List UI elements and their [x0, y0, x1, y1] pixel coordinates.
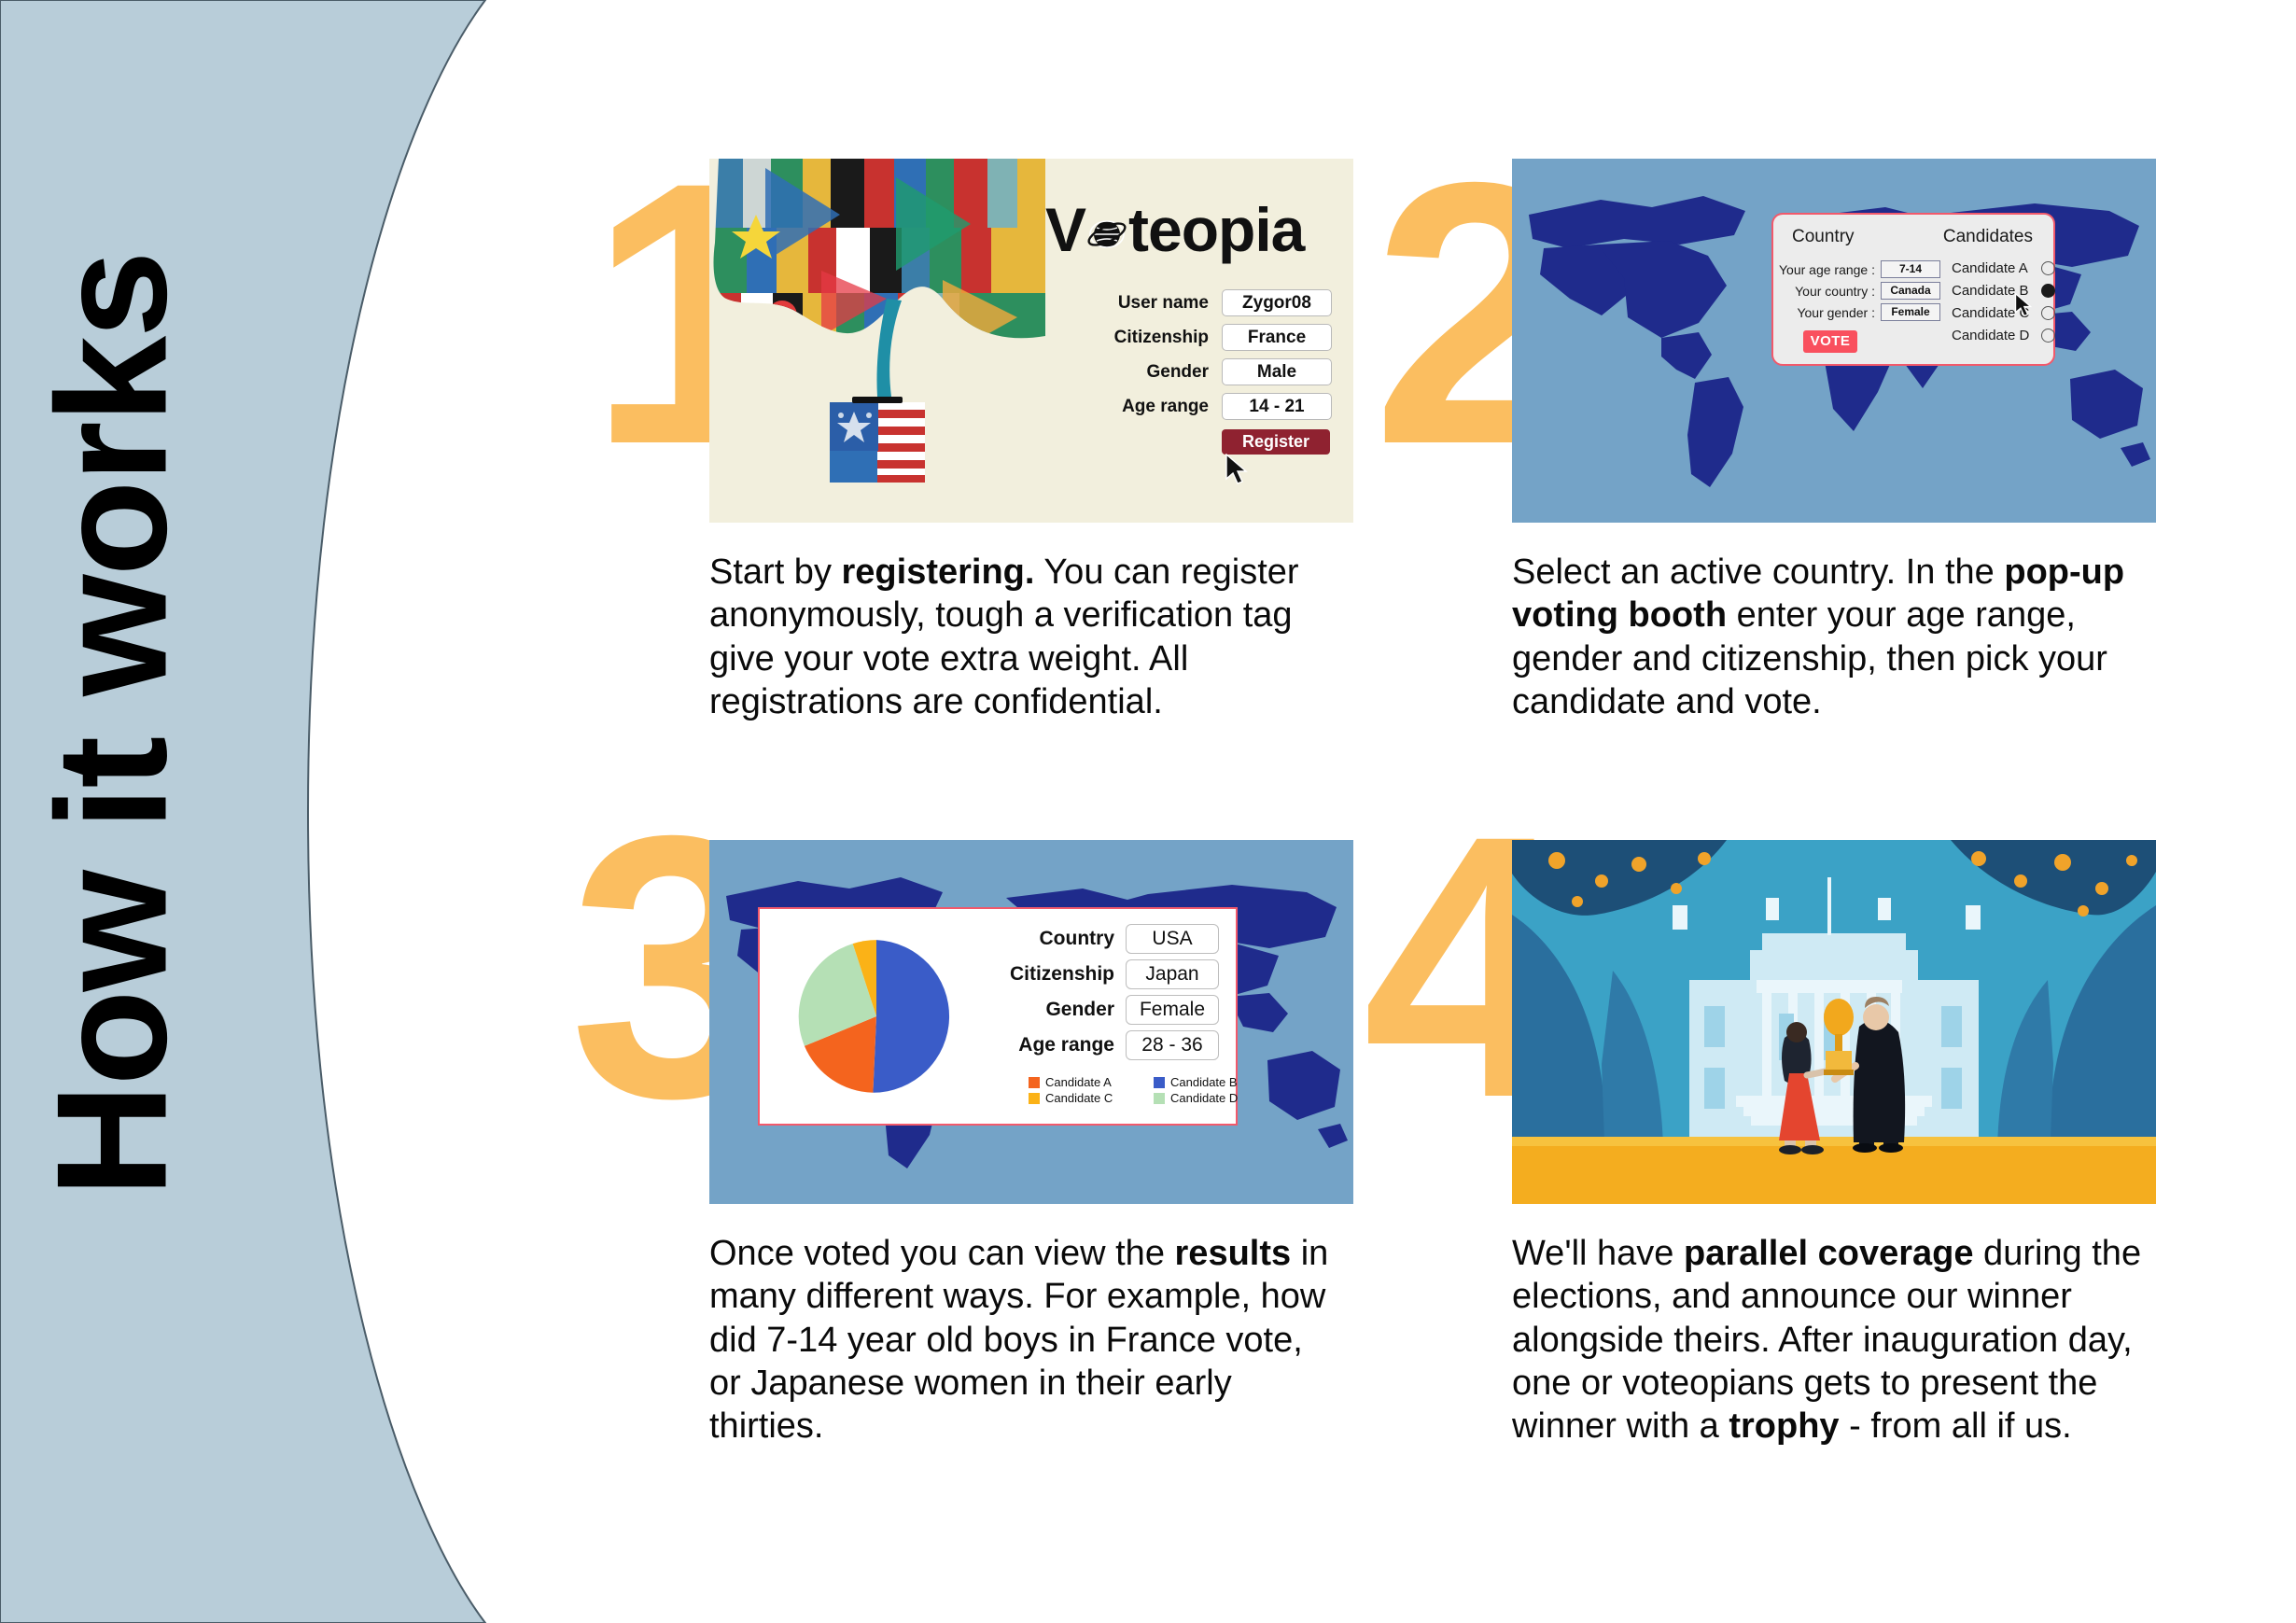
caption-seg-bold: results [1175, 1234, 1292, 1273]
voting-booth-popup: Country Candidates Your age range : 7-14… [1771, 213, 2055, 366]
radio-b-icon[interactable] [2041, 284, 2055, 298]
booth-heading-candidates: Candidates [1943, 227, 2033, 247]
results-country-label: Country [984, 928, 1114, 950]
step-1-caption: Start by registering. You can register a… [709, 551, 1344, 723]
register-button[interactable]: Register [1222, 429, 1330, 455]
username-input[interactable]: Zygor08 [1222, 289, 1332, 316]
booth-heading-country: Country [1792, 227, 1855, 247]
results-row-citizenship: Citizenship Japan [984, 959, 1219, 989]
caption-seg: Select an active country. In the [1512, 553, 2004, 592]
results-row-gender: Gender Female [984, 995, 1219, 1025]
results-gender-label: Gender [984, 999, 1114, 1021]
inauguration-illustration-card [1512, 840, 2156, 1204]
step-3-caption: Once voted you can view the results in m… [709, 1232, 1344, 1448]
booth-row-agerange: Your age range : 7-14 [1786, 260, 1940, 278]
candidate-d-label: Candidate D [1952, 328, 2041, 343]
results-citizenship-input[interactable]: Japan [1126, 959, 1219, 989]
legend-label-b: Candidate B [1170, 1075, 1238, 1089]
brand-logo: V teopia [1045, 194, 1304, 265]
booth-gender-label: Your gender : [1797, 305, 1875, 320]
globe-icon [1086, 198, 1127, 239]
register-screen-card: V teopia User name Zygor08 Citizenship F… [709, 159, 1353, 523]
caption-seg: Once voted you can view the [709, 1234, 1175, 1273]
results-popup: Country USA Citizenship Japan Gender Fem… [758, 907, 1238, 1126]
legend-item-c: Candidate C [1029, 1091, 1141, 1105]
radio-c-icon[interactable] [2041, 306, 2055, 320]
booth-headings: Country Candidates [1773, 215, 2053, 247]
registration-form: User name Zygor08 Citizenship France Gen… [1069, 289, 1332, 455]
gender-input[interactable]: Male [1222, 358, 1332, 385]
caption-seg: Start by [709, 553, 842, 592]
caption-seg-bold: parallel coverage [1684, 1234, 1974, 1273]
mouse-cursor-icon [2014, 293, 2033, 317]
ballot-box-icon [826, 397, 929, 481]
results-row-agerange: Age range 28 - 36 [984, 1030, 1219, 1060]
pie-chart-legend: Candidate A Candidate B Candidate C Cand… [1029, 1075, 1266, 1105]
brand-name-after: teopia [1128, 195, 1304, 264]
voting-booth-card: Country Candidates Your age range : 7-14… [1512, 159, 2156, 523]
legend-swatch-a [1029, 1077, 1040, 1088]
agerange-label: Age range [1069, 397, 1209, 417]
results-agerange-input[interactable]: 28 - 36 [1126, 1030, 1219, 1060]
caption-seg-bold: registering. [842, 553, 1035, 592]
legend-item-a: Candidate A [1029, 1075, 1141, 1089]
results-pie-chart [791, 931, 961, 1101]
radio-a-icon[interactable] [2041, 261, 2055, 275]
citizenship-label: Citizenship [1069, 328, 1209, 348]
legend-label-c: Candidate C [1045, 1091, 1113, 1105]
username-label: User name [1069, 293, 1209, 314]
legend-swatch-d [1154, 1093, 1165, 1104]
form-row-username: User name Zygor08 [1069, 289, 1332, 316]
gender-label: Gender [1069, 362, 1209, 383]
mouse-cursor-icon [1225, 454, 1249, 485]
legend-label-a: Candidate A [1045, 1075, 1112, 1089]
candidate-option-b[interactable]: Candidate B [1952, 283, 2055, 299]
booth-row-country: Your country : Canada [1786, 282, 1940, 300]
agerange-input[interactable]: 14 - 21 [1222, 393, 1332, 420]
radio-d-icon[interactable] [2041, 329, 2055, 343]
step-4-caption: We'll have parallel coverage during the … [1512, 1232, 2147, 1448]
vote-button[interactable]: VOTE [1803, 330, 1857, 353]
booth-country-label: Your country : [1795, 284, 1875, 299]
booth-body: Your age range : 7-14 Your country : Can… [1773, 247, 2053, 353]
caption-seg-bold: trophy [1729, 1406, 1839, 1446]
steps-container: 1 [0, 0, 2296, 1623]
citizenship-input[interactable]: France [1222, 324, 1332, 351]
results-gender-input[interactable]: Female [1126, 995, 1219, 1025]
results-card: Country USA Citizenship Japan Gender Fem… [709, 840, 1353, 1204]
legend-item-d: Candidate D [1154, 1091, 1266, 1105]
results-country-input[interactable]: USA [1126, 924, 1219, 954]
booth-country-input[interactable]: Canada [1881, 282, 1940, 300]
candidate-a-label: Candidate A [1952, 260, 2041, 276]
brand-name-before: V [1045, 195, 1085, 264]
candidate-option-d[interactable]: Candidate D [1952, 328, 2055, 343]
legend-label-d: Candidate D [1170, 1091, 1238, 1105]
results-citizenship-label: Citizenship [984, 963, 1114, 986]
form-row-citizenship: Citizenship France [1069, 324, 1332, 351]
white-house-illustration [1512, 840, 2156, 1204]
form-row-gender: Gender Male [1069, 358, 1332, 385]
candidate-radio-group: Candidate A Candidate B Candidate C [1952, 260, 2055, 353]
booth-agerange-input[interactable]: 7-14 [1881, 260, 1940, 278]
results-filter-form: Country USA Citizenship Japan Gender Fem… [984, 924, 1219, 1066]
candidate-option-c[interactable]: Candidate C [1952, 305, 2055, 321]
caption-seg: - from all if us. [1840, 1406, 2072, 1446]
caption-seg: We'll have [1512, 1234, 1684, 1273]
form-row-agerange: Age range 14 - 21 [1069, 393, 1332, 420]
step-2-caption: Select an active country. In the pop-up … [1512, 551, 2147, 723]
legend-item-b: Candidate B [1154, 1075, 1266, 1089]
legend-swatch-b [1154, 1077, 1165, 1088]
legend-swatch-c [1029, 1093, 1040, 1104]
results-agerange-label: Age range [984, 1034, 1114, 1056]
booth-row-gender: Your gender : Female [1786, 303, 1940, 321]
booth-agerange-label: Your age range : [1779, 262, 1875, 277]
results-row-country: Country USA [984, 924, 1219, 954]
candidate-option-a[interactable]: Candidate A [1952, 260, 2055, 276]
booth-form: Your age range : 7-14 Your country : Can… [1786, 260, 1940, 353]
booth-gender-input[interactable]: Female [1881, 303, 1940, 321]
